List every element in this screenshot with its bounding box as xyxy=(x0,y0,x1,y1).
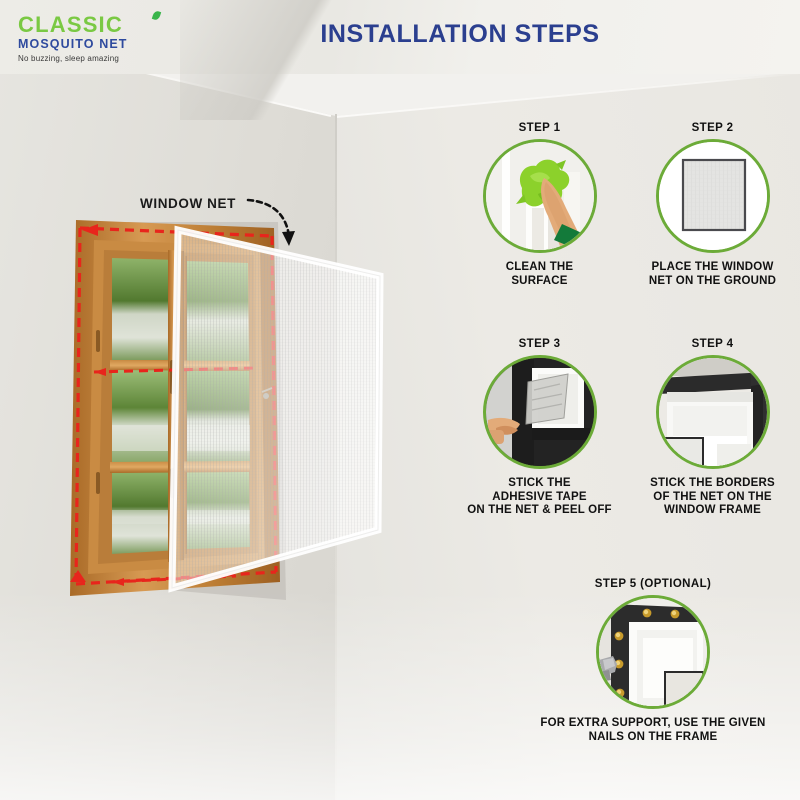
brand-logo: CLASSIC MOSQUITO NET No buzzing, sleep a… xyxy=(18,14,158,63)
step-card-1: STEP 1 xyxy=(452,122,627,288)
step-4-caption: STICK THE BORDERS OF THE NET ON THE WIND… xyxy=(625,477,800,518)
hammer-and-nails-icon xyxy=(599,598,707,706)
steps-panel: STEP 1 xyxy=(440,110,800,790)
brand-subtitle: MOSQUITO NET xyxy=(18,38,158,51)
caption-line: STICK THE BORDERS xyxy=(625,477,800,491)
step-1-title: STEP 1 xyxy=(452,122,627,134)
window-and-net-illustration xyxy=(60,210,430,610)
step-3-title: STEP 3 xyxy=(452,338,627,350)
caption-line: WINDOW FRAME xyxy=(625,504,800,518)
window-net-label: WINDOW NET xyxy=(140,196,236,211)
step-5-title: STEP 5 (OPTIONAL) xyxy=(538,578,768,590)
step-card-2: STEP 2 xyxy=(625,122,800,288)
step-card-3: STEP 3 xyxy=(452,338,627,518)
step-4-image xyxy=(656,355,770,469)
step-3-caption: STICK THE ADHESIVE TAPE ON THE NET & PEE… xyxy=(452,477,627,518)
caption-line: FOR EXTRA SUPPORT, USE THE GIVEN xyxy=(538,717,768,731)
step-1-image xyxy=(483,139,597,253)
step-3-image xyxy=(483,355,597,469)
step-2-image xyxy=(656,139,770,253)
hand-peeling-tape-icon xyxy=(486,358,594,466)
caption-line: NAILS ON THE FRAME xyxy=(538,731,768,745)
caption-line: PLACE THE WINDOW xyxy=(625,261,800,275)
hand-with-green-cloth-icon xyxy=(486,142,594,250)
net-square-icon xyxy=(659,142,767,250)
installation-steps-infographic: CLASSIC MOSQUITO NET No buzzing, sleep a… xyxy=(0,0,800,800)
header-diagonal-shade xyxy=(180,0,420,120)
step-2-title: STEP 2 xyxy=(625,122,800,134)
caption-line: OF THE NET ON THE xyxy=(625,491,800,505)
step-4-title: STEP 4 xyxy=(625,338,800,350)
caption-line: CLEAN THE xyxy=(452,261,627,275)
caption-line: ON THE NET & PEEL OFF xyxy=(452,504,627,518)
step-1-caption: CLEAN THE SURFACE xyxy=(452,261,627,288)
caption-line: NET ON THE GROUND xyxy=(625,275,800,289)
caption-line: SURFACE xyxy=(452,275,627,289)
brand-tagline: No buzzing, sleep amazing xyxy=(18,54,158,63)
step-5-image xyxy=(596,595,710,709)
net-border-on-frame-icon xyxy=(659,358,767,466)
caption-line: ADHESIVE TAPE xyxy=(452,491,627,505)
step-card-4: STEP 4 xyxy=(625,338,800,518)
step-card-5: STEP 5 (OPTIONAL) xyxy=(538,578,768,744)
brand-name: CLASSIC xyxy=(18,14,158,36)
page-title: INSTALLATION STEPS xyxy=(250,20,670,49)
step-5-caption: FOR EXTRA SUPPORT, USE THE GIVEN NAILS O… xyxy=(538,717,768,744)
caption-line: STICK THE xyxy=(452,477,627,491)
step-2-caption: PLACE THE WINDOW NET ON THE GROUND xyxy=(625,261,800,288)
